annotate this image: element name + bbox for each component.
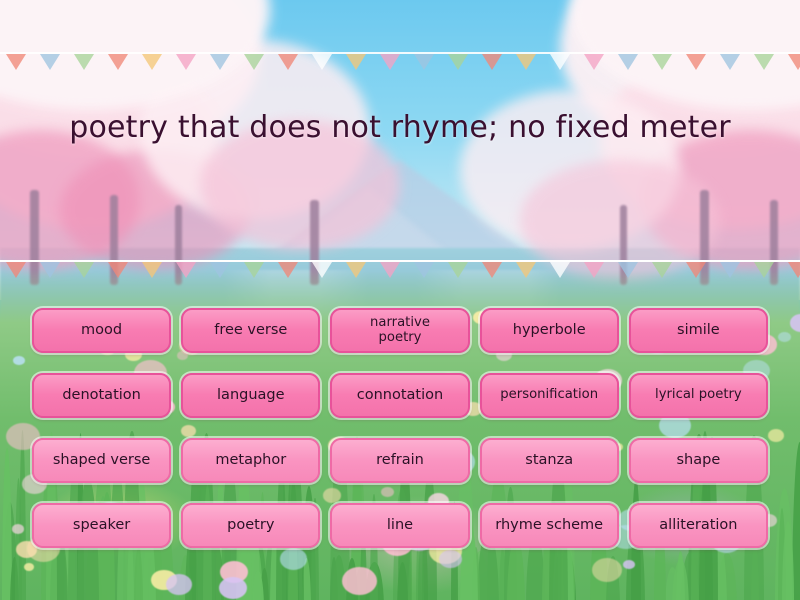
flower: [220, 561, 248, 583]
bunting-flag: [414, 262, 434, 278]
answer-tile[interactable]: poetry: [181, 503, 320, 548]
bunting-flag: [788, 54, 800, 70]
quiz-stage: poetry that does not rhyme; no fixed met…: [0, 0, 800, 600]
grass-blade: [782, 521, 795, 600]
question-prompt: poetry that does not rhyme; no fixed met…: [0, 108, 800, 148]
grass-blade: [149, 558, 157, 600]
grass-blade: [469, 569, 482, 600]
bunting-flag: [244, 54, 264, 70]
grass-blade: [19, 430, 26, 600]
grass-blade: [237, 545, 255, 600]
bunting-flags: [0, 54, 800, 74]
bunting-flag: [108, 54, 128, 70]
bunting-flag: [74, 54, 94, 70]
grass-blade: [354, 566, 369, 600]
flower: [778, 332, 791, 342]
bunting-flag: [788, 262, 800, 278]
bunting-flag: [380, 262, 400, 278]
flower: [12, 524, 24, 534]
bunting-flag: [482, 54, 502, 70]
flower: [219, 577, 247, 599]
answer-tile[interactable]: free verse: [181, 308, 320, 353]
bunting-flag: [40, 262, 60, 278]
bunting-flag: [720, 262, 740, 278]
answer-tile[interactable]: stanza: [480, 438, 619, 483]
flower: [151, 570, 177, 590]
grass-blade: [365, 562, 384, 600]
grass-blade: [606, 556, 620, 600]
answer-tile[interactable]: alliteration: [629, 503, 768, 548]
grass-blade: [302, 558, 311, 600]
grass-blade: [751, 545, 759, 600]
flower: [592, 558, 622, 582]
grass-blade: [10, 557, 19, 600]
grass-blade: [471, 551, 490, 600]
answer-tile[interactable]: shape: [629, 438, 768, 483]
bunting-flag: [448, 262, 468, 278]
grass-blade: [778, 508, 786, 600]
answer-grid: moodfree versenarrative poetryhyperboles…: [32, 308, 768, 548]
bunting-top: [0, 52, 800, 74]
bunting-flag: [720, 54, 740, 70]
grass-blade: [134, 547, 143, 600]
bunting-flag: [516, 262, 536, 278]
answer-tile[interactable]: narrative poetry: [330, 308, 469, 353]
bunting-flag: [584, 262, 604, 278]
bunting-flag: [278, 262, 298, 278]
grass-blade: [179, 555, 192, 600]
grass-blade: [3, 502, 17, 600]
grass-blade: [90, 549, 102, 600]
grass-blade: [676, 551, 685, 600]
grass-blade: [672, 559, 689, 600]
bunting-flag: [346, 262, 366, 278]
grass-blade: [499, 547, 506, 600]
answer-tile[interactable]: line: [330, 503, 469, 548]
bunting-flag: [210, 262, 230, 278]
grass-blade: [346, 558, 358, 600]
answer-tile[interactable]: personification: [480, 373, 619, 418]
answer-tile[interactable]: denotation: [32, 373, 171, 418]
bunting-middle: [0, 260, 800, 282]
flower: [24, 563, 34, 571]
answer-tile[interactable]: connotation: [330, 373, 469, 418]
grass-blade: [252, 570, 264, 600]
bunting-flag: [550, 54, 570, 70]
flower: [790, 314, 800, 332]
bunting-flag: [618, 262, 638, 278]
bunting-flag: [550, 262, 570, 278]
bunting-flag: [74, 262, 94, 278]
bunting-flag: [108, 262, 128, 278]
bunting-flag: [176, 262, 196, 278]
bunting-flag: [40, 54, 60, 70]
bunting-flag: [482, 262, 502, 278]
answer-tile[interactable]: shaped verse: [32, 438, 171, 483]
bunting-flag: [754, 262, 774, 278]
bunting-flag: [754, 54, 774, 70]
grass-blade: [2, 448, 12, 600]
bunting-flag: [312, 54, 332, 70]
flower: [166, 574, 192, 595]
answer-tile[interactable]: refrain: [330, 438, 469, 483]
bunting-flag: [142, 262, 162, 278]
bunting-flag: [652, 262, 672, 278]
flower: [342, 567, 377, 595]
bunting-flag: [686, 262, 706, 278]
bunting-flags: [0, 262, 800, 282]
grass-blade: [472, 547, 481, 600]
answer-tile[interactable]: rhyme scheme: [480, 503, 619, 548]
flower: [623, 560, 635, 569]
bunting-flag: [448, 54, 468, 70]
bunting-flag: [380, 54, 400, 70]
grass-blade: [330, 557, 338, 600]
answer-tile[interactable]: hyperbole: [480, 308, 619, 353]
grass-blade: [332, 555, 347, 600]
answer-tile[interactable]: language: [181, 373, 320, 418]
answer-tile[interactable]: mood: [32, 308, 171, 353]
bunting-flag: [686, 54, 706, 70]
bunting-flag: [142, 54, 162, 70]
answer-tile[interactable]: lyrical poetry: [629, 373, 768, 418]
bunting-flag: [6, 54, 26, 70]
grass-blade: [665, 567, 681, 600]
flower: [439, 550, 462, 568]
bunting-flag: [312, 262, 332, 278]
bunting-flag: [414, 54, 434, 70]
grass-blade: [397, 562, 408, 600]
bunting-flag: [244, 262, 264, 278]
grass-blade: [558, 548, 576, 600]
grass-blade: [252, 542, 267, 600]
bunting-flag: [346, 54, 366, 70]
flower: [13, 356, 25, 365]
bunting-flag: [6, 262, 26, 278]
grass-blade: [15, 478, 22, 600]
bunting-flag: [516, 54, 536, 70]
bunting-flag: [618, 54, 638, 70]
flower: [768, 429, 784, 442]
bunting-flag: [584, 54, 604, 70]
bunting-flag: [652, 54, 672, 70]
grass-blade: [792, 442, 800, 600]
grass-blade: [775, 488, 794, 600]
grass-blade: [260, 568, 269, 600]
bunting-flag: [176, 54, 196, 70]
bunting-flag: [278, 54, 298, 70]
grass-blade: [717, 553, 737, 600]
answer-tile[interactable]: speaker: [32, 503, 171, 548]
flower: [280, 548, 307, 570]
answer-tile[interactable]: simile: [629, 308, 768, 353]
bunting-flag: [210, 54, 230, 70]
answer-tile[interactable]: metaphor: [181, 438, 320, 483]
grass-blade: [681, 552, 700, 600]
